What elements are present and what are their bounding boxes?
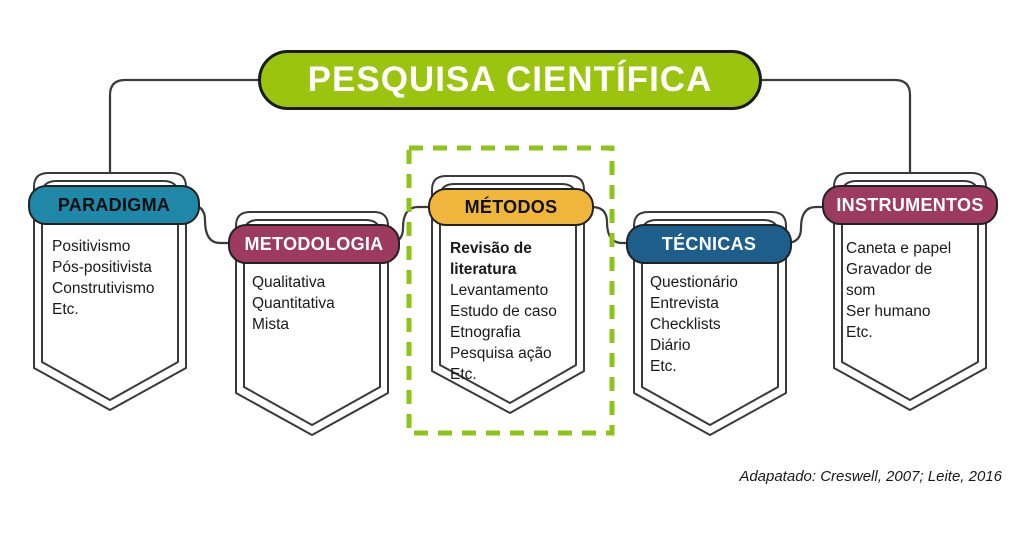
list-instrumentos: Caneta e papel Gravador de som Ser human…	[846, 238, 992, 343]
list-item: Questionário	[650, 272, 790, 293]
list-item: Entrevista	[650, 293, 790, 314]
banner-label-paradigma: PARADIGMA	[58, 195, 170, 216]
list-metodos: Revisão de literatura Levantamento Estud…	[450, 238, 590, 385]
banner-label-metodos: MÉTODOS	[465, 197, 558, 218]
diagram-title-label: PESQUISA CIENTÍFICA	[308, 60, 713, 100]
diagram-title: PESQUISA CIENTÍFICA	[258, 50, 762, 110]
list-item: Etc.	[846, 322, 992, 343]
banner-instrumentos[interactable]: INSTRUMENTOS	[822, 185, 998, 225]
banner-label-metodologia: METODOLOGIA	[245, 234, 384, 255]
list-item: Ser humano	[846, 301, 992, 322]
list-tecnicas: Questionário Entrevista Checklists Diári…	[650, 272, 790, 377]
list-item: Checklists	[650, 314, 790, 335]
list-item: Etnografia	[450, 322, 590, 343]
list-item: Etc.	[450, 364, 590, 385]
list-item: Qualitativa	[252, 272, 392, 293]
list-item: Gravador de	[846, 259, 992, 280]
banner-metodologia[interactable]: METODOLOGIA	[228, 224, 400, 264]
list-item: Caneta e papel	[846, 238, 992, 259]
list-item: Revisão de	[450, 238, 590, 259]
list-item: Diário	[650, 335, 790, 356]
banner-label-tecnicas: TÉCNICAS	[662, 234, 756, 255]
list-item: Etc.	[52, 299, 192, 320]
banner-tecnicas[interactable]: TÉCNICAS	[626, 224, 792, 264]
list-item: Levantamento	[450, 280, 590, 301]
banner-paradigma[interactable]: PARADIGMA	[28, 185, 200, 225]
list-item: som	[846, 280, 992, 301]
banner-metodos[interactable]: MÉTODOS	[428, 188, 594, 226]
list-metodologia: Qualitativa Quantitativa Mista	[252, 272, 392, 335]
list-item: Construtivismo	[52, 278, 192, 299]
source-credit: Adapatado: Creswell, 2007; Leite, 2016	[739, 468, 1002, 485]
list-item: Positivismo	[52, 236, 192, 257]
list-item: Pós-positivista	[52, 257, 192, 278]
list-item: Estudo de caso	[450, 301, 590, 322]
list-item: Pesquisa ação	[450, 343, 590, 364]
list-item: Mista	[252, 314, 392, 335]
list-item: Quantitativa	[252, 293, 392, 314]
banner-label-instrumentos: INSTRUMENTOS	[836, 195, 983, 216]
list-item: literatura	[450, 259, 590, 280]
list-item: Etc.	[650, 356, 790, 377]
list-paradigma: Positivismo Pós-positivista Construtivis…	[52, 236, 192, 320]
diagram-canvas: PESQUISA CIENTÍFICA PARADIGMA METODOLOGI…	[0, 0, 1024, 546]
